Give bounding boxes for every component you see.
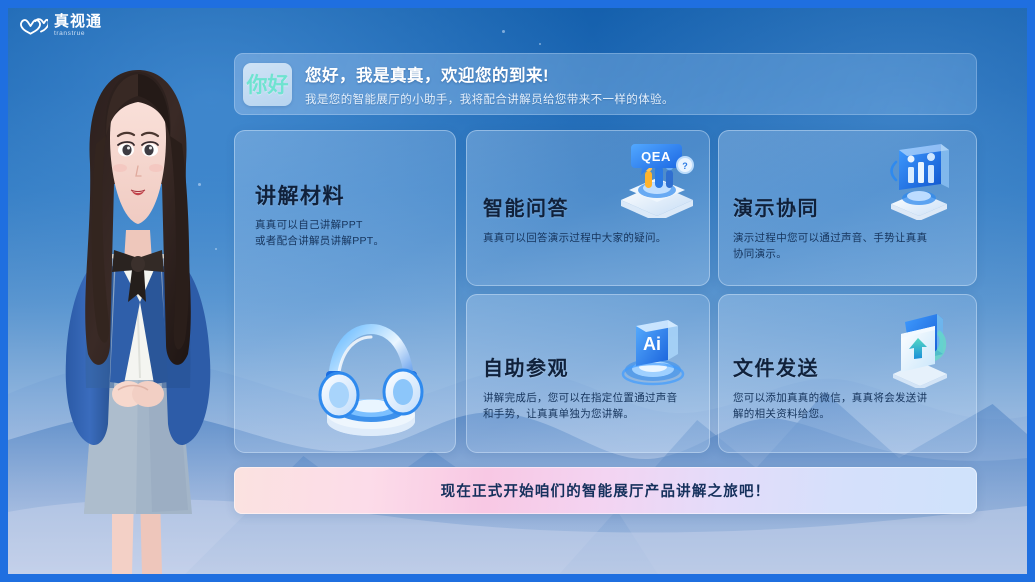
file-upload-folder-icon bbox=[879, 306, 961, 388]
sparkle-icon bbox=[502, 30, 505, 33]
greeting-banner: 你好 您好，我是真真，欢迎您的到来! 我是您的智能展厅的小助手，我将配合讲解员给… bbox=[234, 53, 977, 115]
greeting-badge-text: 你好 bbox=[247, 69, 289, 99]
qea-speech-bubble-icon: QEA ? bbox=[615, 140, 700, 218]
card-title: 演示协同 bbox=[733, 192, 819, 221]
card-description: 真真可以自己讲解PPT 或者配合讲解员讲解PPT。 bbox=[255, 217, 445, 250]
card-description: 演示过程中您可以通过声音、手势让真真 协同演示。 bbox=[733, 230, 948, 263]
card-file-sending[interactable]: 文件发送 您可以添加真真的微信，真真将会发送讲 解的相关资料给您。 bbox=[718, 294, 977, 453]
kiosk-screen: 真视通 transtrue bbox=[0, 0, 1035, 582]
card-self-guided-tour[interactable]: 自助参观 讲解完成后，您可以在指定位置通过声音 和手势，让真真单独为您讲解。 A… bbox=[466, 294, 710, 453]
card-presentation-collaboration[interactable]: 演示协同 演示过程中您可以通过声音、手势让真真 协同演示。 bbox=[718, 130, 977, 286]
presentation-chart-screen-icon bbox=[879, 140, 959, 220]
brand-logo[interactable]: 真视通 transtrue bbox=[20, 14, 102, 38]
start-tour-banner[interactable]: 现在正式开始咱们的智能展厅产品讲解之旅吧！ bbox=[234, 467, 977, 514]
ai-cube-icon: Ai bbox=[614, 308, 692, 388]
greeting-subtitle: 我是您的智能展厅的小助手，我将配合讲解员给您带来不一样的体验。 bbox=[305, 91, 674, 107]
card-description: 讲解完成后，您可以在指定位置通过声音 和手势，让真真单独为您讲解。 bbox=[483, 390, 698, 423]
feature-card-grid: 讲解材料 真真可以自己讲解PPT 或者配合讲解员讲解PPT。 bbox=[234, 130, 977, 453]
card-title: 自助参观 bbox=[483, 352, 569, 381]
svg-text:?: ? bbox=[682, 161, 688, 171]
card-title: 讲解材料 bbox=[255, 180, 345, 210]
avatar bbox=[28, 44, 248, 574]
logo-name-en: transtrue bbox=[54, 31, 102, 38]
greeting-text-block: 您好，我是真真，欢迎您的到来! 我是您的智能展厅的小助手，我将配合讲解员给您带来… bbox=[305, 62, 674, 107]
card-description: 您可以添加真真的微信，真真将会发送讲 解的相关资料给您。 bbox=[733, 390, 948, 423]
card-explanation-material[interactable]: 讲解材料 真真可以自己讲解PPT 或者配合讲解员讲解PPT。 bbox=[234, 130, 456, 453]
double-chevron-heart-logo-icon bbox=[20, 16, 48, 36]
card-description: 真真可以回答演示过程中大家的疑问。 bbox=[483, 230, 693, 246]
greeting-title: 您好，我是真真，欢迎您的到来! bbox=[305, 62, 674, 86]
card-title: 智能问答 bbox=[483, 192, 569, 221]
svg-text:Ai: Ai bbox=[643, 334, 661, 354]
headphones-3d-icon bbox=[306, 315, 436, 440]
card-smart-qa[interactable]: 智能问答 真真可以回答演示过程中大家的疑问。 bbox=[466, 130, 710, 286]
sparkle-icon bbox=[539, 43, 541, 45]
logo-name-cn: 真视通 bbox=[54, 14, 102, 29]
greeting-badge: 你好 bbox=[243, 63, 292, 106]
svg-text:QEA: QEA bbox=[641, 149, 671, 164]
card-title: 文件发送 bbox=[733, 352, 819, 381]
start-tour-text: 现在正式开始咱们的智能展厅产品讲解之旅吧！ bbox=[441, 480, 771, 501]
